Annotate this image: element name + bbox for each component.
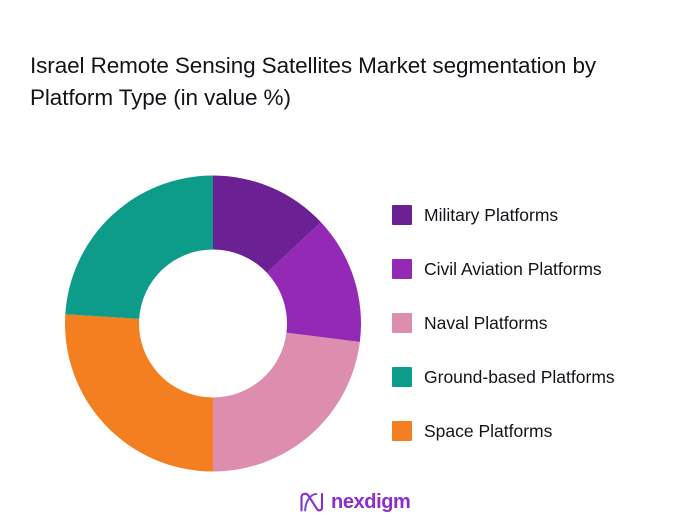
legend-item-naval-platforms[interactable]: Naval Platforms (392, 313, 682, 333)
legend-swatch-icon (392, 205, 412, 225)
legend-label: Military Platforms (424, 205, 558, 225)
legend-label: Civil Aviation Platforms (424, 259, 602, 279)
legend-item-military-platforms[interactable]: Military Platforms (392, 205, 682, 225)
legend-item-space-platforms[interactable]: Space Platforms (392, 421, 682, 441)
legend-label: Space Platforms (424, 421, 552, 441)
legend-item-ground-based-platforms[interactable]: Ground-based Platforms (392, 367, 682, 387)
donut-slice[interactable] (65, 314, 213, 471)
legend-swatch-icon (392, 367, 412, 387)
brand-logo: nexdigm (298, 489, 410, 515)
donut-chart-svg (65, 175, 361, 472)
legend-swatch-icon (392, 421, 412, 441)
donut-slice[interactable] (213, 333, 360, 472)
chart-title: Israel Remote Sensing Satellites Market … (30, 50, 680, 114)
legend-swatch-icon (392, 259, 412, 279)
donut-slice-group (65, 176, 361, 472)
donut-chart (65, 175, 361, 472)
chart-legend: Military Platforms Civil Aviation Platfo… (392, 205, 682, 441)
brand-wordmark: nexdigm (331, 491, 410, 513)
nexdigm-n-mark-icon (298, 490, 323, 514)
legend-item-civil-aviation-platforms[interactable]: Civil Aviation Platforms (392, 259, 682, 279)
donut-slice[interactable] (65, 176, 213, 319)
legend-label: Ground-based Platforms (424, 367, 615, 387)
legend-swatch-icon (392, 313, 412, 333)
legend-label: Naval Platforms (424, 313, 548, 333)
